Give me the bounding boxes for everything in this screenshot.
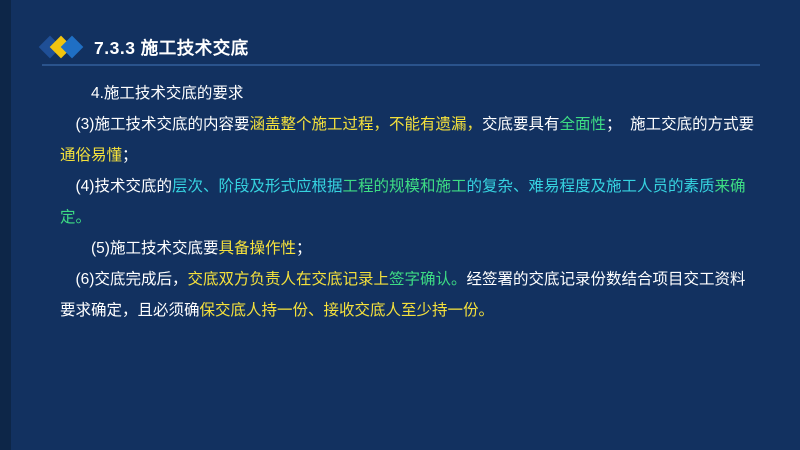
text-segment: ； <box>296 240 312 257</box>
text-segment: 具备操作性 <box>218 240 296 257</box>
text-segment: 保交底人持一份、接收交底人至少持一份。 <box>200 302 495 319</box>
three-diamonds-logo-icon <box>42 34 84 60</box>
paragraph-indent <box>60 116 76 133</box>
paragraph-indent <box>60 178 76 195</box>
slide-body: 4.施工技术交底的要求 (3)施工技术交底的内容要涵盖整个施工过程，不能有遗漏，… <box>60 78 760 326</box>
body-paragraph-5: (5)施工技术交底要具备操作性； <box>60 233 760 264</box>
text-segment: 的复杂、难易程度及施工人员的素质 <box>467 178 715 195</box>
body-paragraph-6: (6)交底完成后，交底双方负责人在交底记录上签字确认。经签署的交底记录份数结合项… <box>60 264 760 326</box>
text-segment: (4)技术交底的 <box>76 178 172 195</box>
text-segment: 交底要具有 <box>482 116 560 133</box>
body-heading: 4.施工技术交底的要求 <box>60 78 760 109</box>
paragraph-indent <box>60 271 76 288</box>
text-segment: 签字确认。 <box>389 271 467 288</box>
body-paragraph-3: (3)施工技术交底的内容要涵盖整个施工过程，不能有遗漏，交底要具有全面性； 施工… <box>60 109 760 171</box>
slide-title-row: 7.3.3 施工技术交底 <box>42 32 249 62</box>
page-title: 7.3.3 施工技术交底 <box>94 35 249 60</box>
body-paragraph-4: (4)技术交底的层次、阶段及形式应根据工程的规模和施工的复杂、难易程度及施工人员… <box>60 171 760 233</box>
text-segment: 涵盖整个施工过程，不能有遗漏， <box>249 116 482 133</box>
text-segment: 通俗易懂 <box>60 147 122 164</box>
text-segment: (3)施工技术交底的内容要 <box>76 116 250 133</box>
left-edge-bar <box>0 0 11 450</box>
slide: 7.3.3 施工技术交底 4.施工技术交底的要求 (3)施工技术交底的内容要涵盖… <box>0 0 800 450</box>
text-segment: (5)施工技术交底要 <box>91 240 218 257</box>
text-segment: 工程的规模和施工 <box>342 178 466 195</box>
text-segment: 全面性 <box>560 116 607 133</box>
text-segment: 交底双方负责人在交底记录上 <box>187 271 389 288</box>
title-divider <box>42 64 760 66</box>
text-segment: ； <box>122 147 138 164</box>
text-segment: (6)交底完成后， <box>76 271 188 288</box>
text-segment: ； 施工交底的方式要 <box>606 116 754 133</box>
text-segment: 层次、阶段及形式应根据 <box>172 178 343 195</box>
